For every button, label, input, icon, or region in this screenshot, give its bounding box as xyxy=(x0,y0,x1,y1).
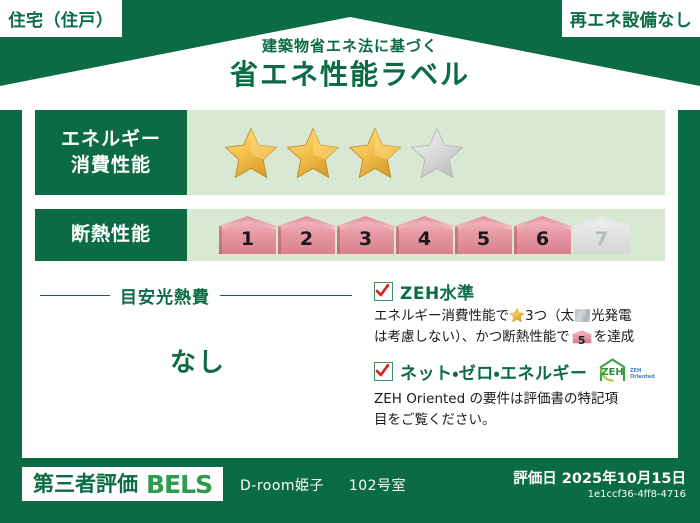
criteria-text-part2: 光発電 xyxy=(591,308,632,324)
bels-third-party-label: 第三者評価 xyxy=(33,474,138,495)
badge-renewable-energy-label: 再エネ設備なし xyxy=(570,6,693,31)
title-block: 建築物省エネ法に基づく 省エネ性能ラベル xyxy=(0,38,700,90)
badge-renewable-energy: 再エネ設備なし xyxy=(562,0,700,37)
insulation-level-house-5: 5 xyxy=(453,214,514,256)
criteria-text-line1: ZEH Oriented の要件は評価書の特記項 xyxy=(374,391,618,407)
svg-text:Oriented: Oriented xyxy=(630,374,655,380)
insulation-level-badge-inline: 5 xyxy=(572,329,592,345)
lower-content: 目安光熱費 なし ZEH水準 エネルギー消費性能で3つ（太光発電は考慮しな xyxy=(22,273,678,458)
insulation-performance-label-line1: 断熱性能 xyxy=(71,222,151,248)
property-info: D-room姫子 102号室 xyxy=(240,475,406,495)
star-icon-filled-1 xyxy=(223,125,279,181)
energy-performance-row: エネルギー 消費性能 xyxy=(35,110,665,195)
bels-logo-text: BELS xyxy=(146,472,212,497)
criteria-text-star-count: 3つ（太 xyxy=(525,308,574,324)
utility-cost-value: なし xyxy=(22,342,374,379)
badge-building-type-label: 住宅（住戸） xyxy=(9,6,114,31)
heading-rule-right xyxy=(220,295,352,296)
utility-cost-heading: 目安光熱費 xyxy=(40,283,352,308)
energy-performance-label: 住宅（住戸） 再エネ設備なし 建築物省エネ法に基づく 省エネ性能ラベル エネルギ… xyxy=(0,0,700,523)
page-title: 省エネ性能ラベル xyxy=(0,60,700,91)
criteria-net-zero-header: ネット・ゼロ・エネルギー ZEH ZEH Oriented xyxy=(374,357,678,387)
insulation-performance-row: 断熱性能 xyxy=(35,209,665,261)
criteria-zeh-level-body: エネルギー消費性能で3つ（太光発電は考慮しない）、かつ断熱性能で5を達成 xyxy=(374,306,678,348)
criteria-net-zero-body: ZEH Oriented の要件は評価書の特記項目をご覧ください。 xyxy=(374,389,678,431)
bels-badge: 第三者評価 BELS xyxy=(22,467,223,501)
badge-building-type: 住宅（住戸） xyxy=(0,0,122,37)
star-icon-filled-2 xyxy=(285,125,341,181)
check-icon xyxy=(374,362,391,379)
insulation-level-house-2: 2 xyxy=(276,214,337,256)
insulation-level-house-1: 1 xyxy=(217,214,278,256)
criteria-section: ZEH水準 エネルギー消費性能で3つ（太光発電は考慮しない）、かつ断熱性能で5を… xyxy=(374,273,678,458)
main-panel: エネルギー 消費性能 xyxy=(22,97,678,458)
criteria-text-part3: は考慮しない）、かつ断熱性能で xyxy=(374,329,570,345)
criteria-text-line2: 目をご覧ください。 xyxy=(374,412,496,428)
property-name: D-room姫子 xyxy=(240,478,324,494)
insulation-level-house-6: 6 xyxy=(512,214,573,256)
insulation-level-house-7: 7 xyxy=(571,214,632,256)
evaluation-date-value: 2025年10月15日 xyxy=(562,471,686,487)
checkbox-net-zero-energy[interactable] xyxy=(374,362,393,381)
insulation-performance-levels: 1 2 3 xyxy=(187,209,665,261)
footer: 第三者評価 BELS D-room姫子 102号室 評価日 2025年10月15… xyxy=(0,458,700,523)
criteria-net-zero-title: ネット・ゼロ・エネルギー xyxy=(400,359,588,384)
energy-performance-label-line2: 消費性能 xyxy=(71,153,151,179)
criteria-zeh-level-title: ZEH水準 xyxy=(400,279,475,304)
masked-character xyxy=(575,309,590,322)
insulation-level-badge-number: 5 xyxy=(572,332,592,349)
svg-text:ZEH: ZEH xyxy=(601,367,623,378)
insulation-level-house-3: 3 xyxy=(335,214,396,256)
evaluation-date: 評価日 2025年10月15日 xyxy=(513,467,686,488)
criteria-zeh-level-header: ZEH水準 xyxy=(374,279,678,304)
check-icon xyxy=(374,282,391,299)
evaluation-id: 1e1ccf36-4ff8-4716 xyxy=(588,489,686,500)
energy-performance-label: エネルギー 消費性能 xyxy=(35,110,187,195)
checkbox-zeh-level[interactable] xyxy=(374,282,393,301)
star-icon-filled-3 xyxy=(347,125,403,181)
star-icon-inline xyxy=(509,307,525,323)
utility-cost-title: 目安光熱費 xyxy=(110,283,220,308)
insulation-level-house-4: 4 xyxy=(394,214,455,256)
energy-performance-stars xyxy=(187,110,665,195)
heading-rule-left xyxy=(40,295,110,296)
star-icon-empty-4 xyxy=(409,125,465,181)
utility-cost-section: 目安光熱費 なし xyxy=(22,273,374,458)
energy-performance-label-line1: エネルギー xyxy=(61,127,161,153)
criteria-text-part1: エネルギー消費性能で xyxy=(374,308,509,324)
evaluation-date-label: 評価日 xyxy=(513,471,557,487)
title-subtitle: 建築物省エネ法に基づく xyxy=(0,38,700,55)
room-number: 102号室 xyxy=(349,478,406,494)
insulation-performance-label: 断熱性能 xyxy=(35,209,187,261)
zeh-oriented-logo: ZEH ZEH Oriented xyxy=(597,357,659,387)
criteria-text-part4: を達成 xyxy=(594,329,635,345)
